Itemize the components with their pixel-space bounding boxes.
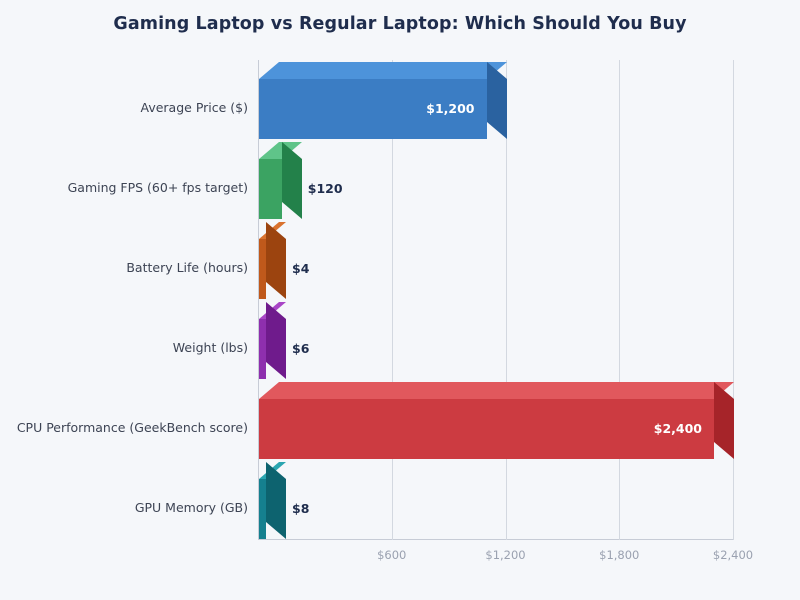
bar-top-face bbox=[259, 382, 734, 399]
y-axis-label: CPU Performance (GeekBench score) bbox=[17, 422, 248, 435]
bar-value-label: $120 bbox=[308, 183, 343, 196]
bar-side-face bbox=[266, 462, 286, 539]
x-axis-tick-label: $2,400 bbox=[713, 548, 753, 562]
bar-front-face bbox=[259, 479, 266, 539]
y-axis-label: Average Price ($) bbox=[141, 102, 248, 115]
bar-front-face bbox=[259, 399, 714, 459]
bar-front-face bbox=[259, 319, 266, 379]
bar-value-label: $6 bbox=[292, 343, 309, 356]
bar-value-label: $8 bbox=[292, 503, 309, 516]
bar-top-face bbox=[259, 62, 507, 79]
bar-front-face bbox=[259, 159, 282, 219]
bar-side-face bbox=[487, 62, 507, 139]
y-axis-label: Weight (lbs) bbox=[173, 342, 248, 355]
y-axis-label: GPU Memory (GB) bbox=[135, 502, 248, 515]
bar-side-face bbox=[266, 222, 286, 299]
bar-front-face bbox=[259, 239, 266, 299]
bar-side-face bbox=[282, 142, 302, 219]
gridline-1800 bbox=[619, 60, 620, 540]
bar-side-face bbox=[266, 302, 286, 379]
bar-value-label: $4 bbox=[292, 263, 309, 276]
chart-container: Gaming Laptop vs Regular Laptop: Which S… bbox=[0, 0, 800, 600]
x-axis-spine bbox=[258, 539, 733, 540]
gridline-2400 bbox=[733, 60, 734, 540]
bar-value-label: $1,200 bbox=[426, 103, 474, 116]
x-axis-tick-label: $1,200 bbox=[485, 548, 525, 562]
bar-value-label: $2,400 bbox=[654, 423, 702, 436]
chart-title: Gaming Laptop vs Regular Laptop: Which S… bbox=[0, 14, 800, 34]
plot-area: $1,200$120$4$6$2,400$8 bbox=[258, 60, 733, 540]
y-axis-label: Battery Life (hours) bbox=[126, 262, 248, 275]
x-axis-tick-label: $600 bbox=[377, 548, 406, 562]
y-axis-label: Gaming FPS (60+ fps target) bbox=[68, 182, 248, 195]
x-axis-tick-label: $1,800 bbox=[599, 548, 639, 562]
bar-side-face bbox=[714, 382, 734, 459]
